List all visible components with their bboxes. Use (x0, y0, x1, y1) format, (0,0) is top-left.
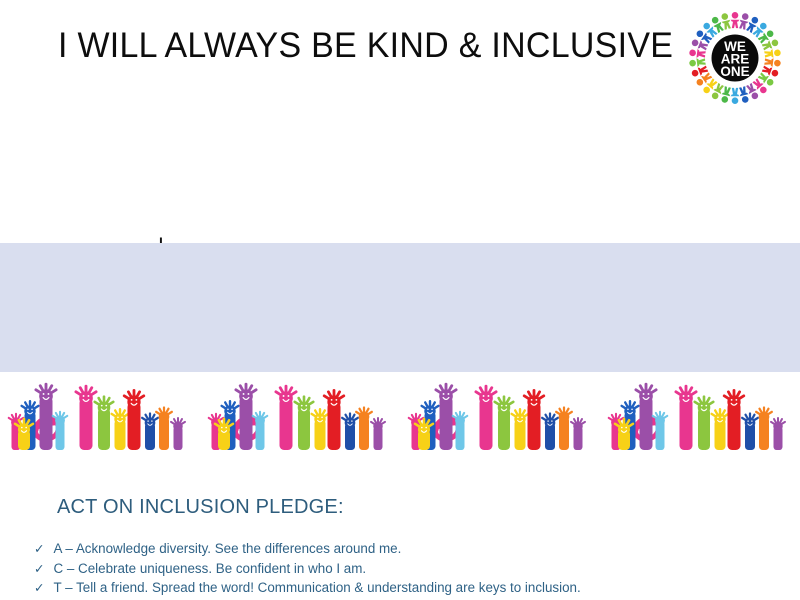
page-title: I WILL ALWAYS BE KIND & INCLUSIVE (58, 26, 673, 66)
checkmark-icon: ✓ (34, 543, 44, 556)
checkmark-icon: ✓ (34, 563, 44, 576)
hands-banner-tile (200, 372, 400, 450)
pledge-statement: I, ( YOUR NAME HERE ) pledge to value di… (0, 112, 800, 230)
act-list-item: ✓T – Tell a friend. Spread the word! Com… (34, 580, 774, 595)
hands-banner-tile (600, 372, 800, 450)
act-list-item-label: T – Tell a friend. Spread the word! Comm… (53, 580, 580, 595)
pledge-poster: I WILL ALWAYS BE KIND & INCLUSIVE WE ARE… (0, 0, 800, 450)
poster-header: I WILL ALWAYS BE KIND & INCLUSIVE WE ARE… (0, 0, 800, 118)
act-list-item-label: C – Celebrate uniqueness. Be confident i… (53, 561, 366, 576)
act-list-item: ✓C – Celebrate uniqueness. Be confident … (34, 561, 774, 576)
hands-banner-tile (400, 372, 600, 450)
act-list-item: ✓A – Acknowledge diversity. See the diff… (34, 541, 774, 556)
checkmark-icon: ✓ (34, 582, 44, 595)
logo-text-one: ONE (720, 64, 749, 79)
hands-banner-tile (0, 372, 200, 450)
we-are-one-logo: WE ARE ONE (683, 6, 787, 110)
act-pledge-list: ✓A – Acknowledge diversity. See the diff… (34, 541, 774, 600)
act-on-inclusion-panel: ACT ON INCLUSION PLEDGE: ✓A – Acknowledg… (0, 243, 800, 373)
act-list-item-label: A – Acknowledge diversity. See the diffe… (53, 541, 401, 556)
act-panel-heading: ACT ON INCLUSION PLEDGE: (57, 496, 344, 519)
hands-banner (0, 372, 800, 450)
